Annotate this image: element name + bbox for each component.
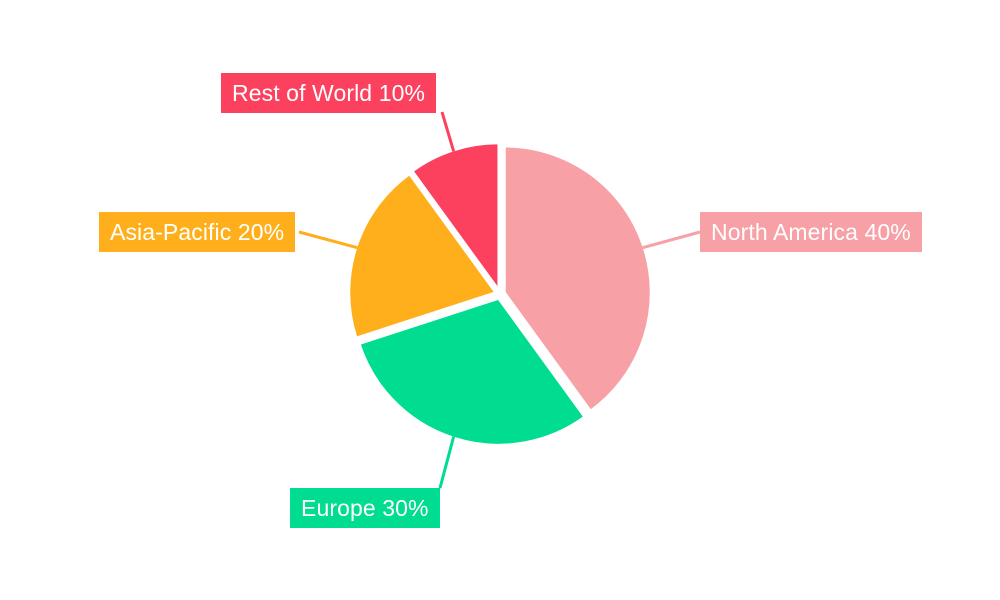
pie-label-asia-pacific-text: Asia-Pacific 20% <box>110 221 284 244</box>
leader-line-asia-pacific <box>299 232 357 248</box>
pie-slices <box>349 143 651 445</box>
leader-line-north-america <box>643 232 700 248</box>
pie-label-europe[interactable]: Europe 30% <box>290 488 440 528</box>
pie-chart-canvas <box>0 0 1000 600</box>
pie-label-europe-text: Europe 30% <box>301 497 429 520</box>
pie-label-rest-of-world-text: Rest of World 10% <box>232 82 425 105</box>
leader-line-europe <box>440 437 454 488</box>
pie-label-north-america-text: North America 40% <box>711 221 911 244</box>
leader-line-rest-of-world <box>442 112 454 151</box>
pie-label-asia-pacific[interactable]: Asia-Pacific 20% <box>99 212 295 252</box>
pie-label-north-america[interactable]: North America 40% <box>700 212 922 252</box>
pie-chart: North America 40% Europe 30% Asia-Pacifi… <box>0 0 1000 600</box>
pie-label-rest-of-world[interactable]: Rest of World 10% <box>221 73 436 113</box>
